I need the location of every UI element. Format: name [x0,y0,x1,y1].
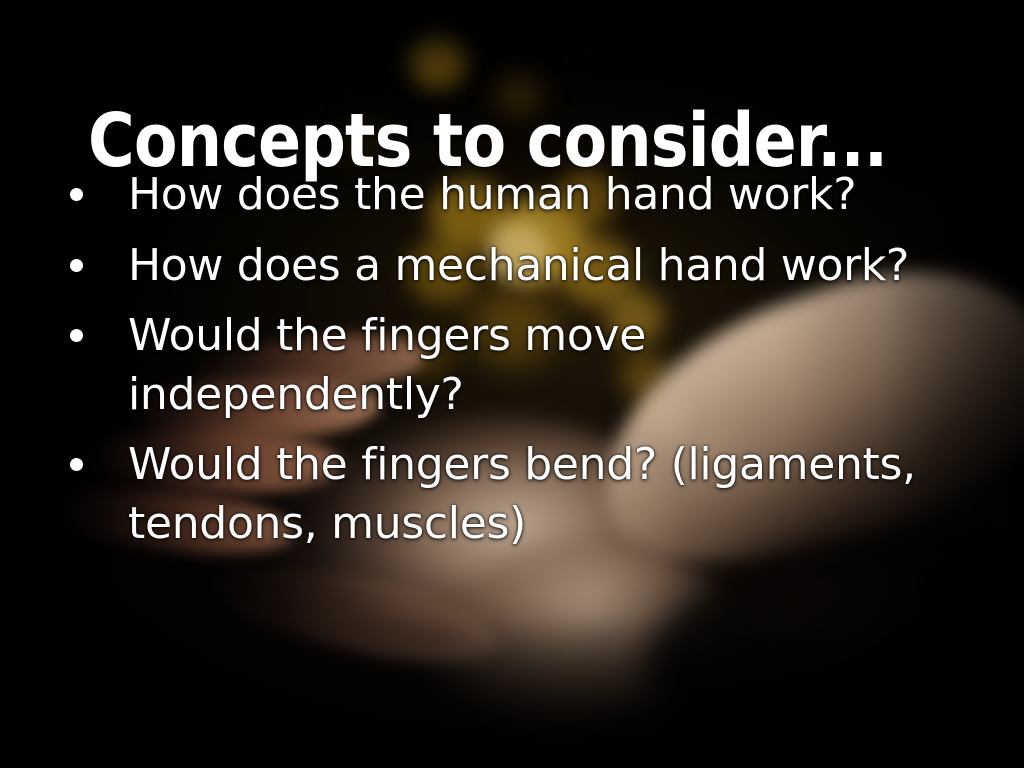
presentation-slide: Concepts to consider... How does the hum… [0,0,1024,768]
bullet-dot-icon [70,259,83,272]
bullet-text: Would the fingers move independently? [128,307,976,424]
bullet-list-item: How does the human hand work? [56,166,976,225]
slide-content: Concepts to consider... How does the hum… [0,0,1024,768]
bullet-list-item: Would the fingers bend? (ligaments, tend… [56,436,976,553]
bullet-dot-icon [70,458,83,471]
bullet-text: How does the human hand work? [128,166,976,225]
bullet-text: Would the fingers bend? (ligaments, tend… [128,436,976,553]
bullet-dot-icon [70,188,83,201]
bullet-dot-icon [70,329,83,342]
bullet-list: How does the human hand work? How does a… [56,166,976,565]
bullet-text: How does a mechanical hand work? [128,237,976,296]
bullet-list-item: Would the fingers move independently? [56,307,976,424]
bullet-list-item: How does a mechanical hand work? [56,237,976,296]
